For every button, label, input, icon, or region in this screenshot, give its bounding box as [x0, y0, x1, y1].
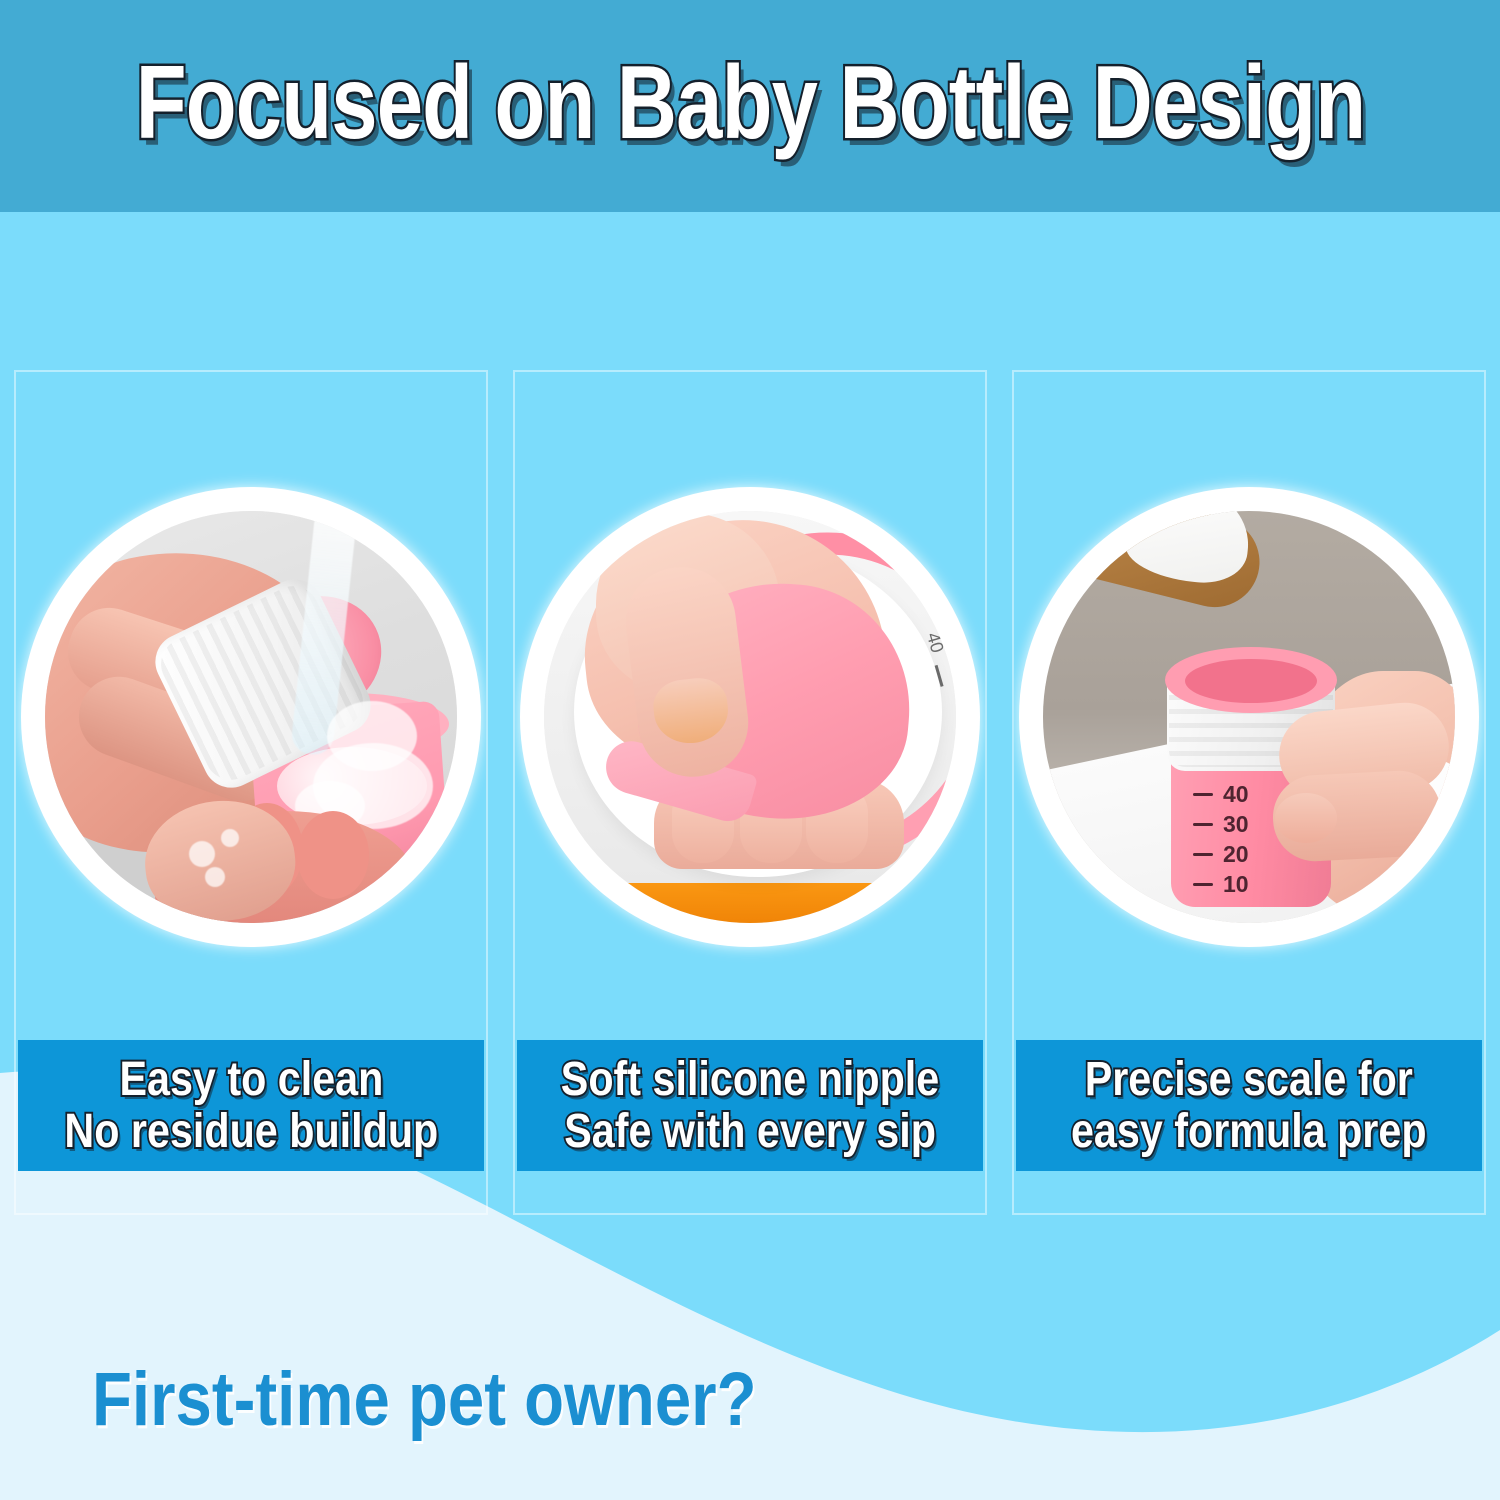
caption-line-1a: Easy to clean: [119, 1055, 383, 1105]
scale-mark-20: 20: [1223, 841, 1249, 868]
feature-panel-list: Easy to clean No residue buildup: [0, 370, 1500, 1215]
caption-line-2b: Safe with every sip: [564, 1107, 936, 1157]
caption-line-3a: Precise scale for: [1085, 1055, 1413, 1105]
caption-bar-1: Easy to clean No residue buildup: [18, 1040, 484, 1171]
bottom-copy-section: First-time pet owner? We understand your…: [0, 1362, 1500, 1500]
feature-panel-precise-scale: 40 30 20 10: [1012, 370, 1486, 1215]
photo-image-easy-to-clean: [45, 511, 457, 923]
caption-line-3b: easy formula prep: [1071, 1107, 1427, 1157]
photo-circle-1: [21, 487, 481, 947]
feature-panel-easy-to-clean: Easy to clean No residue buildup: [14, 370, 488, 1215]
caption-bar-2: Soft silicone nipple Safe with every sip: [517, 1040, 983, 1171]
bottle-marking-40: 40: [922, 630, 948, 655]
header-band: Focused on Baby Bottle Design: [0, 0, 1500, 212]
feature-panel-soft-nipple: 40: [513, 370, 987, 1215]
photo-frame-3: 40 30 20 10: [1014, 372, 1484, 1062]
caption-line-2a: Soft silicone nipple: [561, 1055, 939, 1105]
photo-circle-3: 40 30 20 10: [1019, 487, 1479, 947]
photo-frame-1: [16, 372, 486, 1062]
scale-mark-30: 30: [1223, 811, 1249, 838]
bottom-heading: First-time pet owner?: [92, 1362, 1303, 1438]
marketing-infographic: Focused on Baby Bottle Design: [0, 0, 1500, 1500]
photo-image-precise-scale: 40 30 20 10: [1043, 511, 1455, 923]
scale-mark-40: 40: [1223, 781, 1249, 808]
caption-bar-3: Precise scale for easy formula prep: [1016, 1040, 1482, 1171]
photo-image-soft-nipple: 40: [544, 511, 956, 923]
mid-section: Easy to clean No residue buildup: [0, 212, 1500, 1500]
photo-frame-2: 40: [515, 372, 985, 1062]
scale-mark-10: 10: [1223, 871, 1249, 898]
bottom-body-line-1: We understand your unexpected journey an…: [92, 1494, 1331, 1500]
photo-circle-2: 40: [520, 487, 980, 947]
page-title: Focused on Baby Bottle Design: [135, 51, 1365, 155]
caption-line-1b: No residue buildup: [64, 1107, 438, 1157]
